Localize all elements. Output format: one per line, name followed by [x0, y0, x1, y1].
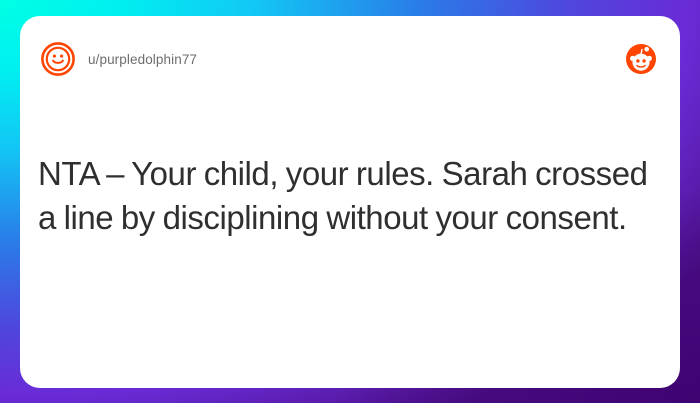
reddit-snoo-logo-icon[interactable] — [626, 44, 656, 74]
card-header: u/purpledolphin77 — [20, 16, 680, 102]
reddit-comment-card: u/purpledolphin77 NTA – Your child, your… — [20, 16, 680, 388]
card-body: NTA – Your child, your rules. Sarah cros… — [38, 152, 658, 240]
smiley-face-avatar-icon[interactable] — [40, 41, 76, 77]
screen-root: u/purpledolphin77 NTA – Your child, your… — [0, 0, 700, 403]
comment-text: NTA – Your child, your rules. Sarah cros… — [38, 152, 658, 240]
username-label: u/purpledolphin77 — [88, 52, 197, 67]
